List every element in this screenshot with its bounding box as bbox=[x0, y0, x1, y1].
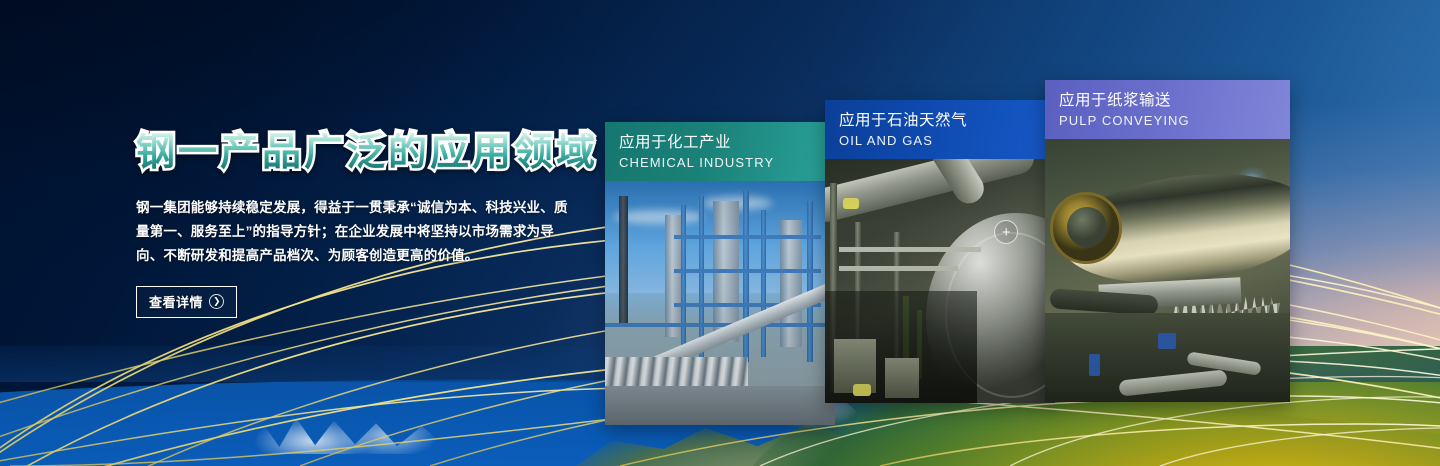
card-title-cn: 应用于纸浆输送 bbox=[1059, 91, 1276, 111]
card-title-en: CHEMICAL INDUSTRY bbox=[619, 154, 821, 171]
card-header: 应用于纸浆输送 PULP CONVEYING bbox=[1045, 80, 1290, 139]
oil-and-gas-facility-photo: + bbox=[825, 159, 1055, 403]
card-title-en: PULP CONVEYING bbox=[1059, 112, 1276, 129]
hero-copy: 钢一产品广泛的应用领域 钢一产品广泛的应用领域 钢一集团能够持续稳定发展，得益于… bbox=[136, 133, 586, 318]
chevron-right-circle-icon: ❯ bbox=[209, 294, 224, 309]
page-title: 钢一产品广泛的应用领域 钢一产品广泛的应用领域 bbox=[136, 133, 586, 179]
view-details-button[interactable]: 查看详情 ❯ bbox=[136, 286, 237, 318]
card-title-cn: 应用于化工产业 bbox=[619, 133, 821, 153]
chemical-plant-photo bbox=[605, 181, 835, 425]
card-title-en: OIL AND GAS bbox=[839, 132, 1041, 149]
card-title-cn: 应用于石油天然气 bbox=[839, 111, 1041, 131]
card-header: 应用于石油天然气 OIL AND GAS bbox=[825, 100, 1055, 159]
application-card-chemical-industry[interactable]: 应用于化工产业 CHEMICAL INDUSTRY bbox=[605, 122, 835, 425]
page-title-text: 钢一产品广泛的应用领域 bbox=[136, 133, 598, 172]
card-header: 应用于化工产业 CHEMICAL INDUSTRY bbox=[605, 122, 835, 181]
pulp-paper-machine-photo bbox=[1045, 139, 1290, 402]
view-details-label: 查看详情 bbox=[149, 292, 203, 311]
application-card-oil-and-gas[interactable]: 应用于石油天然气 OIL AND GAS bbox=[825, 100, 1055, 403]
hero-banner: 钢一产品广泛的应用领域 钢一产品广泛的应用领域 钢一集团能够持续稳定发展，得益于… bbox=[0, 0, 1440, 466]
hero-description: 钢一集团能够持续稳定发展，得益于一贯秉承“诚信为本、科技兴业、质量第一、服务至上… bbox=[136, 196, 574, 268]
application-card-pulp-conveying[interactable]: 应用于纸浆输送 PULP CONVEYING bbox=[1045, 80, 1290, 402]
